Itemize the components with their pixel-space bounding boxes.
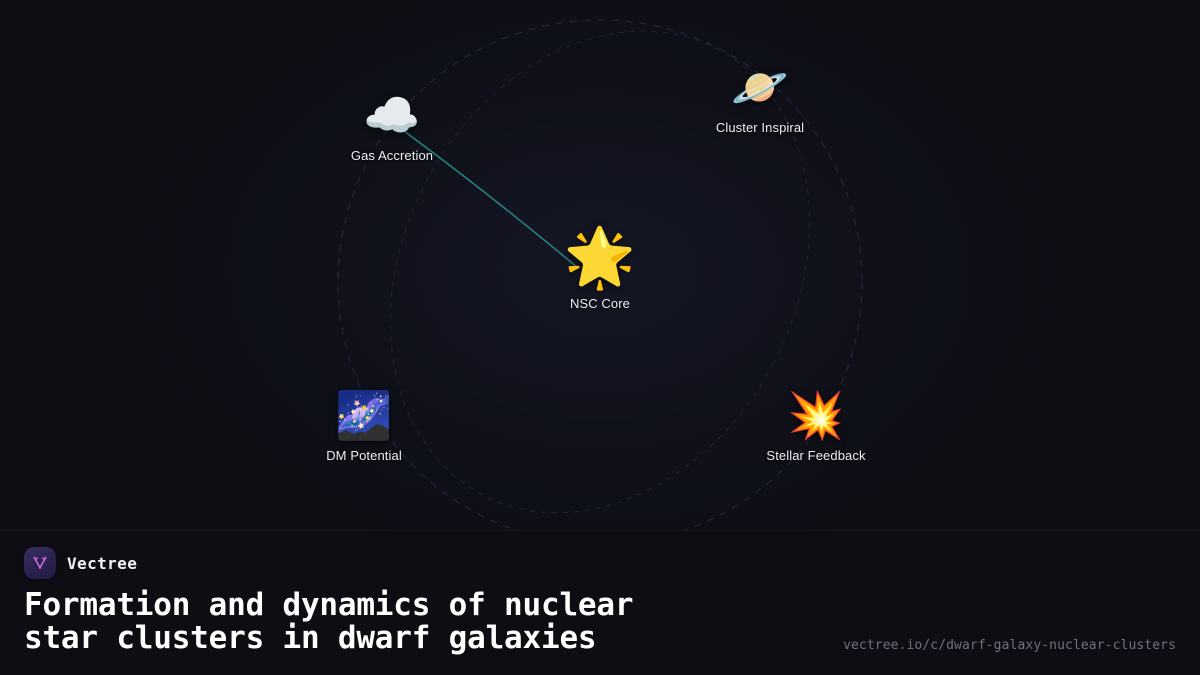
graph-node-stellar-feedback[interactable]: 💥 Stellar Feedback xyxy=(736,392,896,463)
graph-node-dm-potential[interactable]: 🌌 DM Potential xyxy=(284,392,444,463)
graph-node-nsc-core[interactable]: 🌟 NSC Core xyxy=(520,228,680,311)
cloud-icon: ☁️ xyxy=(312,92,472,138)
milky-way-icon: 🌌 xyxy=(284,392,444,438)
page-url: vectree.io/c/dwarf-galaxy-nuclear-cluste… xyxy=(843,638,1176,653)
brand-row[interactable]: Vectree xyxy=(24,547,137,579)
footer-bar: Vectree Formation and dynamics of nuclea… xyxy=(0,530,1200,675)
graph-node-label: Gas Accretion xyxy=(312,148,472,163)
graph-node-cluster-inspiral[interactable]: 🪐 Cluster Inspiral xyxy=(680,64,840,135)
graph-node-label: Stellar Feedback xyxy=(736,448,896,463)
ringed-planet-icon: 🪐 xyxy=(680,64,840,110)
graph-canvas[interactable]: ☁️ Gas Accretion 🪐 Cluster Inspiral 🌟 NS… xyxy=(0,0,1200,530)
graph-node-label: DM Potential xyxy=(284,448,444,463)
vectree-logo-icon xyxy=(24,547,56,579)
glowing-star-icon: 🌟 xyxy=(520,228,680,286)
explosion-icon: 💥 xyxy=(736,392,896,438)
brand-name: Vectree xyxy=(67,554,137,573)
graph-node-label: Cluster Inspiral xyxy=(680,120,840,135)
page-title: Formation and dynamics of nuclear star c… xyxy=(24,589,864,656)
graph-node-gas-accretion[interactable]: ☁️ Gas Accretion xyxy=(312,92,472,163)
graph-node-label: NSC Core xyxy=(520,296,680,311)
